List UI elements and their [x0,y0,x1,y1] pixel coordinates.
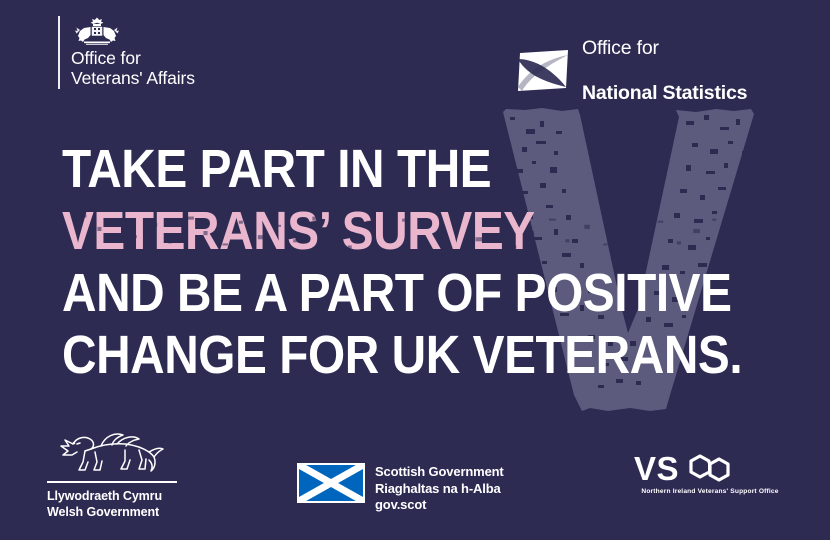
logo-body: Office for Veterans' Affairs [71,16,195,89]
logo-ons-label: Office for National Statistics [582,15,747,126]
logo-divider-rule [58,16,60,89]
headline-line-2: VETERANS’ SURVEY [62,200,742,262]
logo-welsh-label: Llywodraeth Cymru Welsh Government [47,488,177,521]
logo-welsh-government: Llywodraeth Cymru Welsh Government [47,424,177,521]
ons-logo-icon [516,47,572,94]
logo-scottish-government: Scottish Government Riaghaltas na h-Alba… [297,463,504,514]
logo-office-for-veterans-affairs: Office for Veterans' Affairs [58,16,195,89]
logo-ons-line1: Office for [582,37,747,59]
headline-line-3: AND BE A PART OF POSITIVE [62,262,742,324]
welsh-dragon-icon [55,424,167,476]
saltire-flag-icon [297,463,365,503]
royal-coat-of-arms-icon [71,16,123,46]
headline-line-1: TAKE PART IN THE [62,138,742,200]
logo-ova-label: Office for Veterans' Affairs [71,48,195,89]
veterans-survey-poster: Office for Veterans' Affairs Office for … [0,0,830,540]
vso-subtitle: Northern Ireland Veterans' Support Offic… [634,488,786,496]
logo-office-for-national-statistics: Office for National Statistics [516,15,747,126]
headline-line-4: CHANGE FOR UK VETERANS. [62,324,742,386]
vso-mark: VS [634,451,786,485]
headline: TAKE PART IN THE VETERANS’ SURVEY [62,138,830,386]
logo-veterans-support-office: VS Northern Ireland Veterans' Support Of… [634,451,786,496]
headline-line-2-text: VETERANS’ SURVEY [62,201,535,261]
logo-ons-line2: National Statistics [582,82,747,104]
interlocking-hexagons-icon [681,452,739,484]
logo-divider-rule [47,481,177,483]
vso-letters: VS [634,452,679,485]
logo-scottish-label: Scottish Government Riaghaltas na h-Alba… [375,463,504,514]
